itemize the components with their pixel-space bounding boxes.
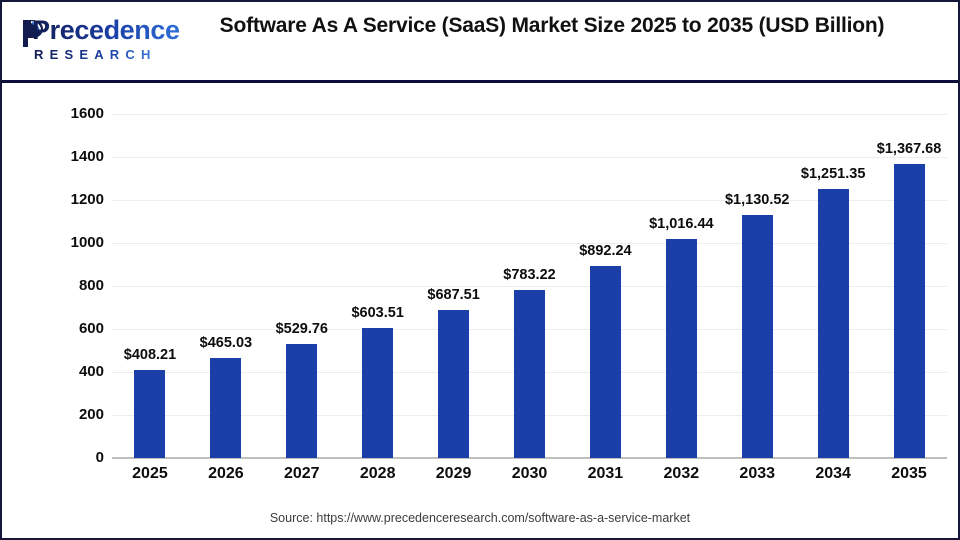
y-axis-tick-label: 400 xyxy=(22,364,104,380)
x-axis-tick-2032: 2032 xyxy=(643,465,719,483)
y-axis-tick-label: 1400 xyxy=(22,149,104,165)
bar-group: $783.22 xyxy=(492,114,568,458)
y-axis-tick-label: 0 xyxy=(22,450,104,466)
bar-group: $529.76 xyxy=(264,114,340,458)
x-axis-tick-2026: 2026 xyxy=(188,465,264,483)
bar-2031[interactable] xyxy=(590,266,621,458)
logo-wordmark: Precedence xyxy=(32,14,180,46)
bar-2033[interactable] xyxy=(742,215,773,458)
bar-2030[interactable] xyxy=(514,290,545,458)
y-axis-tick-label: 1200 xyxy=(22,192,104,208)
bar-group: $687.51 xyxy=(416,114,492,458)
chart-figure: Precedence RESEARCH Software As A Servic… xyxy=(0,0,960,540)
bar-value-label: $529.76 xyxy=(250,321,354,337)
bar-value-label: $892.24 xyxy=(553,243,657,259)
x-axis-tick-2031: 2031 xyxy=(567,465,643,483)
bar-2029[interactable] xyxy=(438,310,469,458)
bar-series: 2025$408.212026$465.032027$529.762028$60… xyxy=(112,83,947,538)
source-caption: Source: https://www.precedenceresearch.c… xyxy=(2,510,958,526)
x-axis-tick-2027: 2027 xyxy=(264,465,340,483)
bar-group: $1,367.68 xyxy=(871,114,947,458)
bar-group: $465.03 xyxy=(188,114,264,458)
bar-value-label: $1,130.52 xyxy=(705,192,809,208)
x-axis-tick-2035: 2035 xyxy=(871,465,947,483)
bar-2035[interactable] xyxy=(894,164,925,458)
bar-2032[interactable] xyxy=(666,239,697,458)
bar-2025[interactable] xyxy=(134,370,165,458)
bar-value-label: $783.22 xyxy=(478,267,582,283)
bar-value-label: $603.51 xyxy=(326,305,430,321)
x-axis-tick-2030: 2030 xyxy=(492,465,568,483)
bar-2026[interactable] xyxy=(210,358,241,458)
bar-value-label: $465.03 xyxy=(174,335,278,351)
plot-area: 02004006008001000120014001600 2025$408.2… xyxy=(2,83,958,538)
page-title: Software As A Service (SaaS) Market Size… xyxy=(202,11,902,41)
y-axis-tick-label: 600 xyxy=(22,321,104,337)
y-axis-tick-label: 1600 xyxy=(22,106,104,122)
bar-value-label: $1,367.68 xyxy=(857,141,960,157)
bar-group: $408.21 xyxy=(112,114,188,458)
y-axis-tick-label: 800 xyxy=(22,278,104,294)
bar-2027[interactable] xyxy=(286,344,317,458)
precedence-research-logo: Precedence RESEARCH xyxy=(20,14,170,66)
x-axis-tick-2029: 2029 xyxy=(416,465,492,483)
bar-value-label: $1,016.44 xyxy=(629,216,733,232)
bar-2034[interactable] xyxy=(818,189,849,458)
x-axis-tick-2028: 2028 xyxy=(340,465,416,483)
bar-value-label: $687.51 xyxy=(402,287,506,303)
x-axis-tick-2025: 2025 xyxy=(112,465,188,483)
bar-group: $892.24 xyxy=(567,114,643,458)
bar-group: $1,016.44 xyxy=(643,114,719,458)
bar-2028[interactable] xyxy=(362,328,393,458)
x-axis-tick-2033: 2033 xyxy=(719,465,795,483)
bar-group: $603.51 xyxy=(340,114,416,458)
bar-group: $1,251.35 xyxy=(795,114,871,458)
logo-subtitle: RESEARCH xyxy=(34,47,157,62)
x-axis-tick-2034: 2034 xyxy=(795,465,871,483)
chart-header: Precedence RESEARCH Software As A Servic… xyxy=(2,2,958,80)
y-axis-tick-label: 200 xyxy=(22,407,104,423)
y-axis-tick-label: 1000 xyxy=(22,235,104,251)
bar-value-label: $1,251.35 xyxy=(781,166,885,182)
